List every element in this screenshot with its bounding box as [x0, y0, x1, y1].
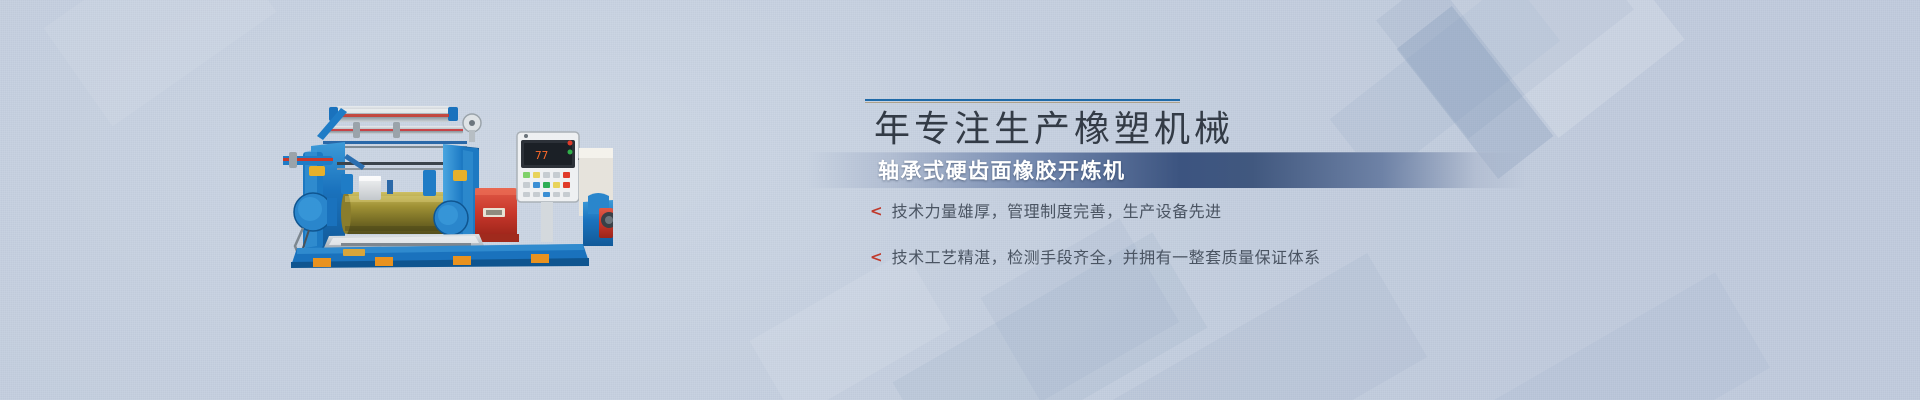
chevron-left-icon: < — [870, 202, 883, 220]
divider-line-blue — [865, 99, 1180, 101]
feature-text: 技术工艺精湛，检测手段齐全，并拥有一整套质量保证体系 — [892, 244, 1321, 268]
headline-divider — [865, 99, 1180, 103]
product-name: 轴承式硬齿面橡胶开炼机 — [878, 158, 1126, 184]
list-item: < 技术力量雄厚，管理制度完善，生产设备先进 — [870, 198, 1321, 222]
divider-line-tan — [865, 102, 1180, 103]
feature-list: < 技术力量雄厚，管理制度完善，生产设备先进 < 技术工艺精湛，检测手段齐全，并… — [870, 198, 1321, 268]
list-item: < 技术工艺精湛，检测手段齐全，并拥有一整套质量保证体系 — [870, 244, 1321, 268]
page-title: 年专注生产橡塑机械 — [874, 108, 1234, 152]
feature-text: 技术力量雄厚，管理制度完善，生产设备先进 — [892, 198, 1222, 222]
banner-content: 年专注生产橡塑机械 轴承式硬齿面橡胶开炼机 < 技术力量雄厚，管理制度完善，生产… — [0, 0, 1920, 400]
promo-banner: 77 — [0, 0, 1920, 400]
chevron-left-icon: < — [870, 248, 883, 266]
